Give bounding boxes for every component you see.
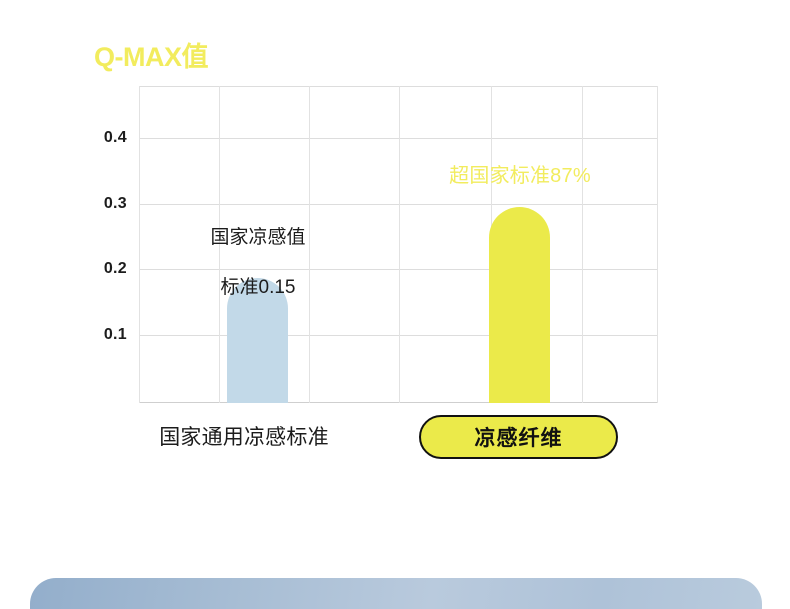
y-tick-0-3: 0.3 [104, 195, 127, 213]
bar-cooling-fiber[interactable] [489, 207, 550, 403]
x-label-cooling-fiber-pill[interactable]: 凉感纤维 [419, 415, 618, 459]
annotation-national-standard-line2: 标准0.15 [168, 275, 348, 300]
annotation-exceed-standard: 超国家标准87% [420, 159, 620, 188]
bottom-decorative-panel [30, 578, 762, 609]
x-label-cooling-fiber-text: 凉感纤维 [475, 422, 563, 452]
annotation-national-standard-line1: 国家凉感值 [168, 225, 348, 250]
gridline-v-3 [399, 86, 400, 403]
y-tick-0-4: 0.4 [104, 129, 127, 147]
qmax-bar-chart: 0.4 0.3 0.2 0.1 国家凉感值 标准0.15 超国家标准87% 国家… [0, 0, 790, 470]
y-tick-0-1: 0.1 [104, 326, 127, 344]
gridline-v-0 [139, 86, 140, 403]
gridline-v-6 [657, 86, 658, 403]
y-axis-tick-labels: 0.4 0.3 0.2 0.1 [82, 86, 127, 403]
gridline-v-5 [582, 86, 583, 403]
annotation-national-standard: 国家凉感值 标准0.15 [168, 200, 348, 325]
y-tick-0-2: 0.2 [104, 260, 127, 278]
x-label-national-standard: 国家通用凉感标准 [149, 421, 339, 451]
